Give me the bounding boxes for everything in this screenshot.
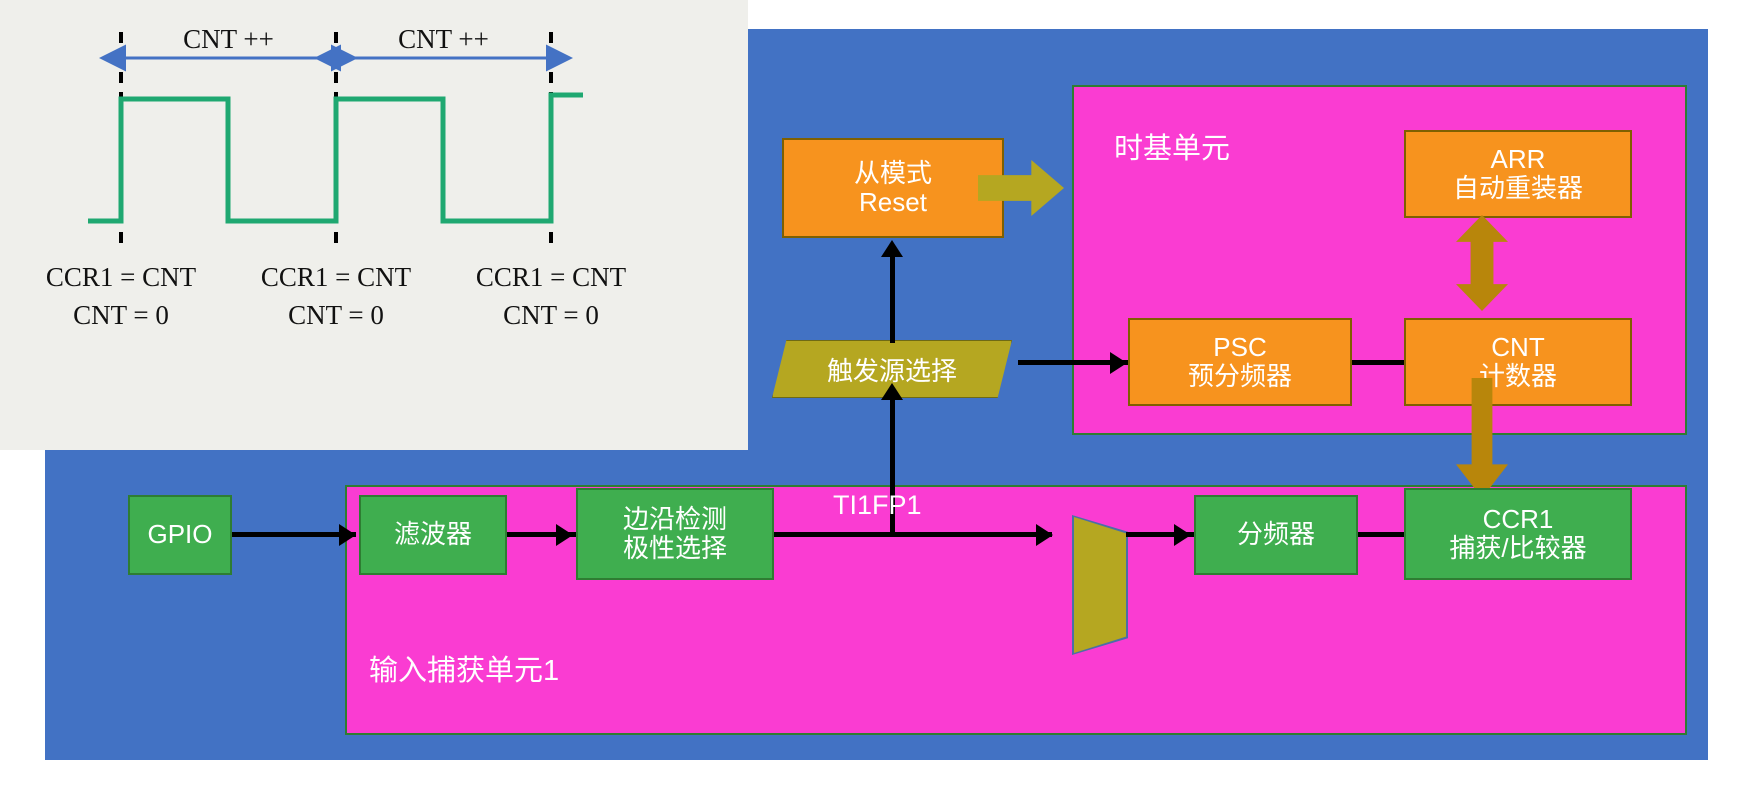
ti1fp1-arrowhead — [1036, 524, 1053, 546]
filter-line1: 滤波器 — [394, 520, 472, 549]
slave-mode-line2: Reset — [859, 188, 927, 217]
gpio-box[interactable]: GPIO — [128, 495, 232, 575]
edge-label-3-line1: CCR1 = CNT — [451, 262, 651, 293]
edge-label-2-line1: CCR1 = CNT — [236, 262, 436, 293]
cnt-increment-label-2: CNT ++ — [336, 24, 551, 55]
edge-detect-polarity-box[interactable]: 边沿检测 极性选择 — [576, 488, 774, 580]
edge-label-3-line2: CNT = 0 — [451, 300, 651, 331]
arr-autoreload-box[interactable]: ARR 自动重装器 — [1404, 130, 1632, 218]
ccr1-line2: 捕获/比较器 — [1449, 534, 1586, 563]
slave-mode-line1: 从模式 — [854, 159, 932, 188]
capture-mux-trapezoid[interactable] — [1074, 517, 1126, 653]
trigger-to-slave-arrowhead — [881, 240, 903, 257]
gpio-label: GPIO — [147, 520, 212, 549]
filter-to-edge-arrowhead — [556, 524, 573, 546]
ccr1-line1: CCR1 — [1483, 505, 1554, 534]
edge-line2: 极性选择 — [623, 534, 727, 563]
ti1fp1-to-trigger-arrowhead — [881, 383, 903, 400]
trigger-to-slave-line — [890, 255, 895, 343]
psc-line1: PSC — [1213, 333, 1266, 362]
mux-to-divider-arrowhead — [1174, 524, 1191, 546]
gpio-to-filter-line — [232, 532, 356, 537]
cnt-counter-box[interactable]: CNT 计数器 — [1404, 318, 1632, 406]
divider-line1: 分频器 — [1237, 520, 1315, 549]
psc-prescaler-box[interactable]: PSC 预分频器 — [1128, 318, 1352, 406]
cnt-increment-label-1: CNT ++ — [121, 24, 336, 55]
divider-box[interactable]: 分频器 — [1194, 495, 1358, 575]
diagram-canvas: 时基单元 输入捕获单元1 CNT ++ CNT — [0, 0, 1743, 797]
ti1fp1-label: TI1FP1 — [833, 490, 922, 521]
trigger-source-label: 触发源选择 — [827, 351, 957, 388]
ti1fp1-line — [774, 532, 1052, 537]
waveform-panel: CNT ++ CNT ++ CCR1 = CNT CNT = 0 CCR1 = … — [0, 0, 748, 450]
edge-label-2-line2: CNT = 0 — [236, 300, 436, 331]
edge-line1: 边沿检测 — [623, 505, 727, 534]
slave-mode-reset-box[interactable]: 从模式 Reset — [782, 138, 1004, 238]
waveform-svg — [0, 0, 748, 450]
filter-box[interactable]: 滤波器 — [359, 495, 507, 575]
ccr1-capture-compare-box[interactable]: CCR1 捕获/比较器 — [1404, 488, 1632, 580]
cnt-line1: CNT — [1491, 333, 1544, 362]
edge-label-1-line1: CCR1 = CNT — [21, 262, 221, 293]
trigger-to-psc-arrowhead — [1110, 352, 1127, 374]
edge-label-1-line2: CNT = 0 — [21, 300, 221, 331]
arr-line2: 自动重装器 — [1453, 174, 1583, 203]
time-base-unit-title: 时基单元 — [1114, 125, 1230, 167]
gpio-to-filter-arrowhead — [339, 524, 356, 546]
arr-line1: ARR — [1491, 145, 1546, 174]
psc-line2: 预分频器 — [1188, 362, 1292, 391]
input-capture-unit-title: 输入捕获单元1 — [369, 647, 559, 689]
